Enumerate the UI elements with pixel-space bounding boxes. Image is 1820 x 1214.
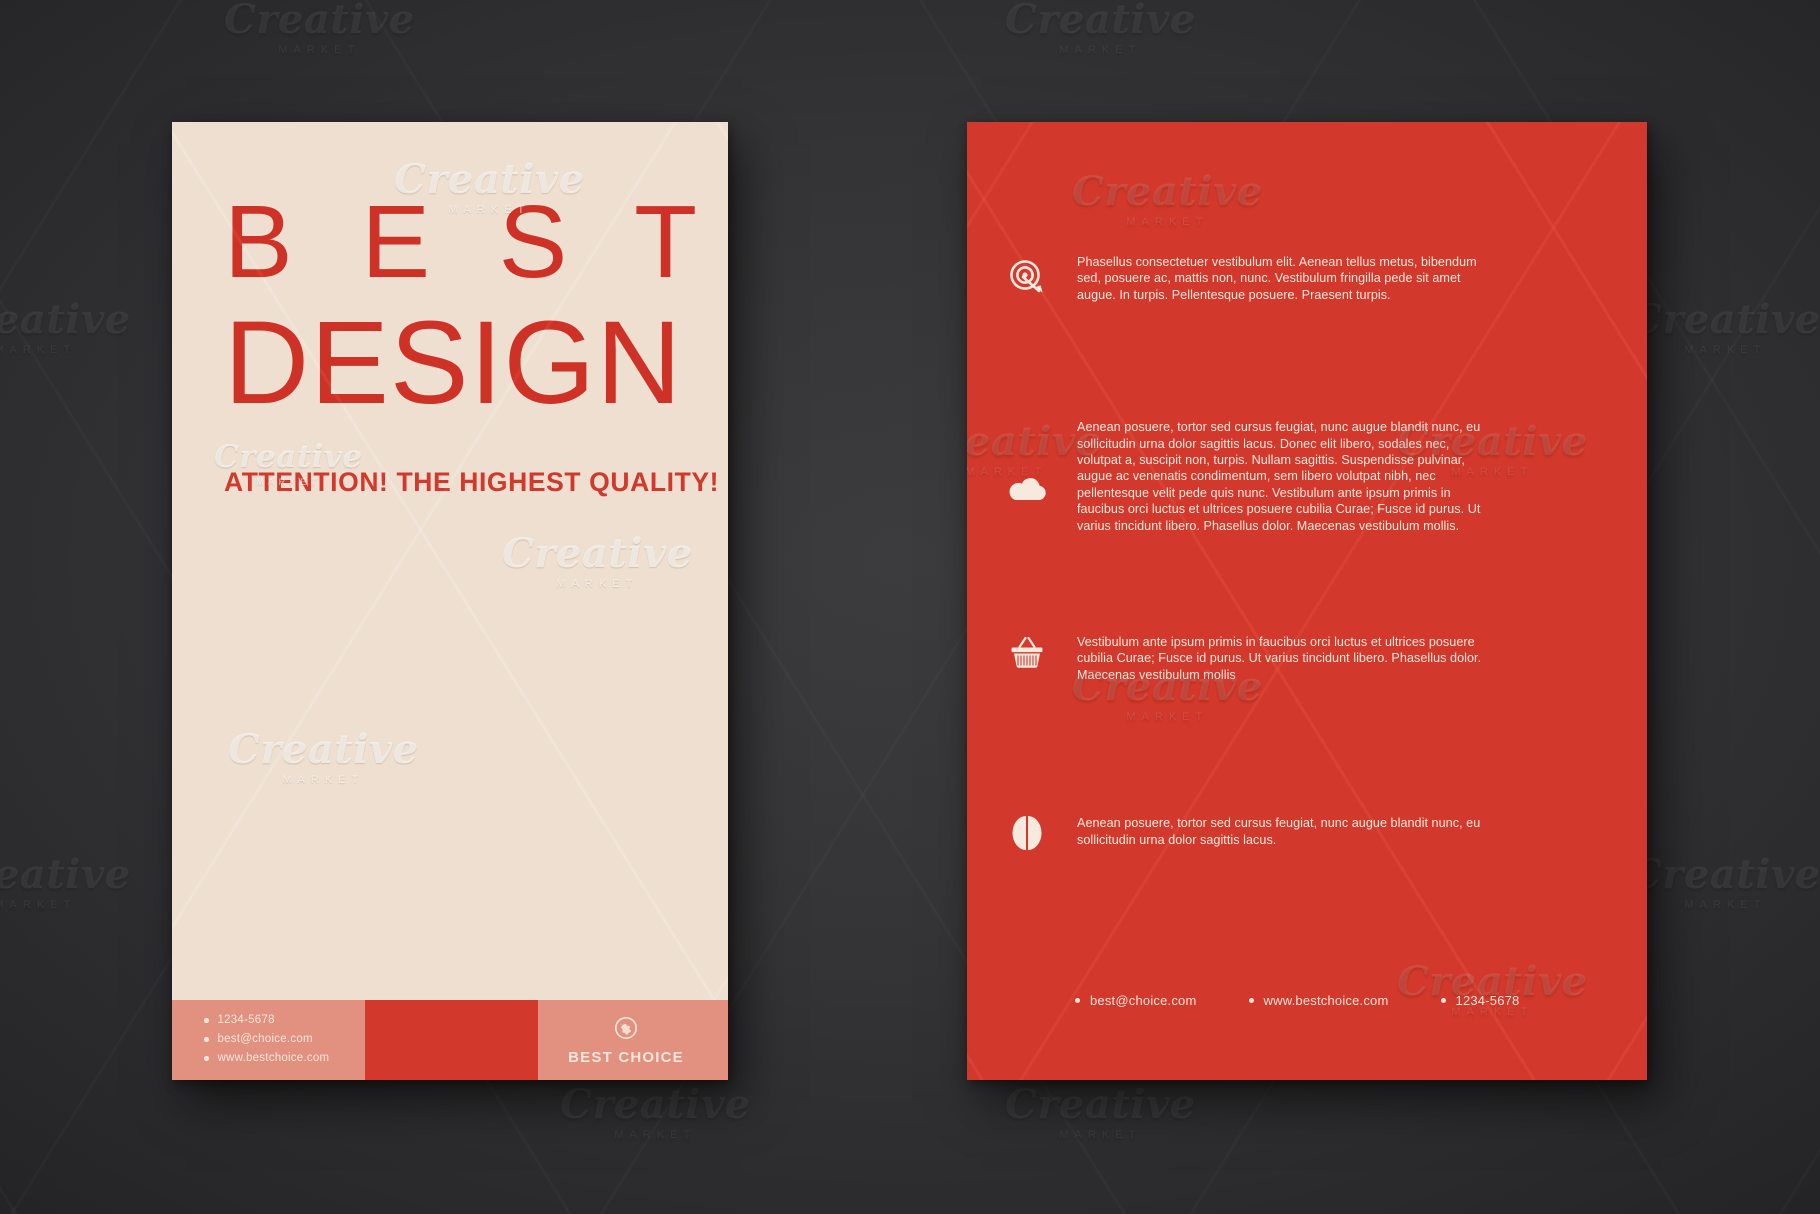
basket-icon	[977, 634, 1077, 670]
feature-text: Aenean posuere, tortor sed cursus feugia…	[1077, 419, 1497, 534]
contact-label: 1234-5678	[218, 1011, 275, 1030]
back-contact-phone[interactable]: 1234-5678	[1441, 993, 1520, 1008]
watermark-bg-2: Creative MARKET	[1005, 0, 1196, 56]
watermark-bg-4: Creative MARKET	[0, 855, 131, 911]
watermark-bg-3: Creative MARKET	[0, 300, 131, 356]
contact-label: best@choice.com	[218, 1030, 313, 1049]
watermark-bg-8: Creative MARKET	[1005, 1085, 1196, 1141]
contact-item-email[interactable]: best@choice.com	[204, 1030, 365, 1049]
mockup-canvas: Creative MARKET Creative MARKET Creative…	[0, 0, 1820, 1214]
target-icon	[977, 254, 1077, 294]
back-content: Phasellus consectetuer vestibulum elit. …	[967, 122, 1647, 851]
bullet-icon	[204, 1056, 209, 1061]
watermark-bg-6: Creative MARKET	[1630, 855, 1820, 911]
watermark-back-5: Creative MARKET	[1397, 962, 1588, 1018]
feature-block-2: Aenean posuere, tortor sed cursus feugia…	[977, 419, 1591, 534]
watermark-bg-5: Creative MARKET	[1630, 300, 1820, 356]
headline-design: DESIGN	[224, 303, 676, 423]
front-logo-band: BEST CHOICE	[538, 1000, 728, 1080]
bullet-icon	[204, 1037, 209, 1042]
watermark-front-3: Creative MARKET	[502, 534, 693, 590]
front-footer-accent-band	[365, 1000, 538, 1080]
globe-icon	[614, 1016, 638, 1045]
bullet-icon	[204, 1018, 209, 1023]
front-content: B E S T DESIGN ATTENTION! THE HIGHEST QU…	[172, 122, 728, 498]
contact-label: www.bestchoice.com	[1264, 993, 1389, 1008]
watermark-bg-1: Creative MARKET	[224, 0, 415, 56]
watermark-bg-7: Creative MARKET	[560, 1085, 751, 1141]
feature-block-1: Phasellus consectetuer vestibulum elit. …	[977, 254, 1591, 303]
back-contact-email[interactable]: best@choice.com	[1075, 993, 1197, 1008]
contact-item-website[interactable]: www.bestchoice.com	[204, 1049, 365, 1068]
feature-text: Vestibulum ante ipsum primis in faucibus…	[1077, 634, 1497, 683]
flyer-front[interactable]: B E S T DESIGN ATTENTION! THE HIGHEST QU…	[172, 122, 728, 1080]
contact-label: 1234-5678	[1456, 993, 1520, 1008]
front-footer: 1234-5678 best@choice.com www.bestchoice…	[172, 1000, 728, 1080]
contact-label: best@choice.com	[1090, 993, 1197, 1008]
feature-block-3: Vestibulum ante ipsum primis in faucibus…	[977, 634, 1591, 683]
bullet-icon	[1249, 998, 1254, 1003]
brand-logo: BEST CHOICE	[538, 1016, 714, 1066]
bullet-icon	[1441, 998, 1446, 1003]
back-footer: best@choice.com www.bestchoice.com 1234-…	[1075, 993, 1520, 1008]
bean-icon	[977, 815, 1077, 851]
bullet-icon	[1075, 998, 1080, 1003]
feature-text: Aenean posuere, tortor sed cursus feugia…	[1077, 815, 1497, 848]
back-contact-website[interactable]: www.bestchoice.com	[1249, 993, 1389, 1008]
headline-best: B E S T	[224, 192, 676, 293]
subheadline: ATTENTION! THE HIGHEST QUALITY!	[224, 467, 676, 498]
brand-name: BEST CHOICE	[568, 1049, 684, 1066]
flyer-back[interactable]: Phasellus consectetuer vestibulum elit. …	[967, 122, 1647, 1080]
watermark-front-4: Creative MARKET	[228, 730, 419, 786]
front-contact-band: 1234-5678 best@choice.com www.bestchoice…	[172, 1000, 365, 1080]
contact-label: www.bestchoice.com	[218, 1049, 330, 1068]
cloud-icon	[977, 419, 1077, 503]
feature-text: Phasellus consectetuer vestibulum elit. …	[1077, 254, 1497, 303]
feature-block-4: Aenean posuere, tortor sed cursus feugia…	[977, 815, 1591, 851]
contact-item-phone[interactable]: 1234-5678	[204, 1011, 365, 1030]
